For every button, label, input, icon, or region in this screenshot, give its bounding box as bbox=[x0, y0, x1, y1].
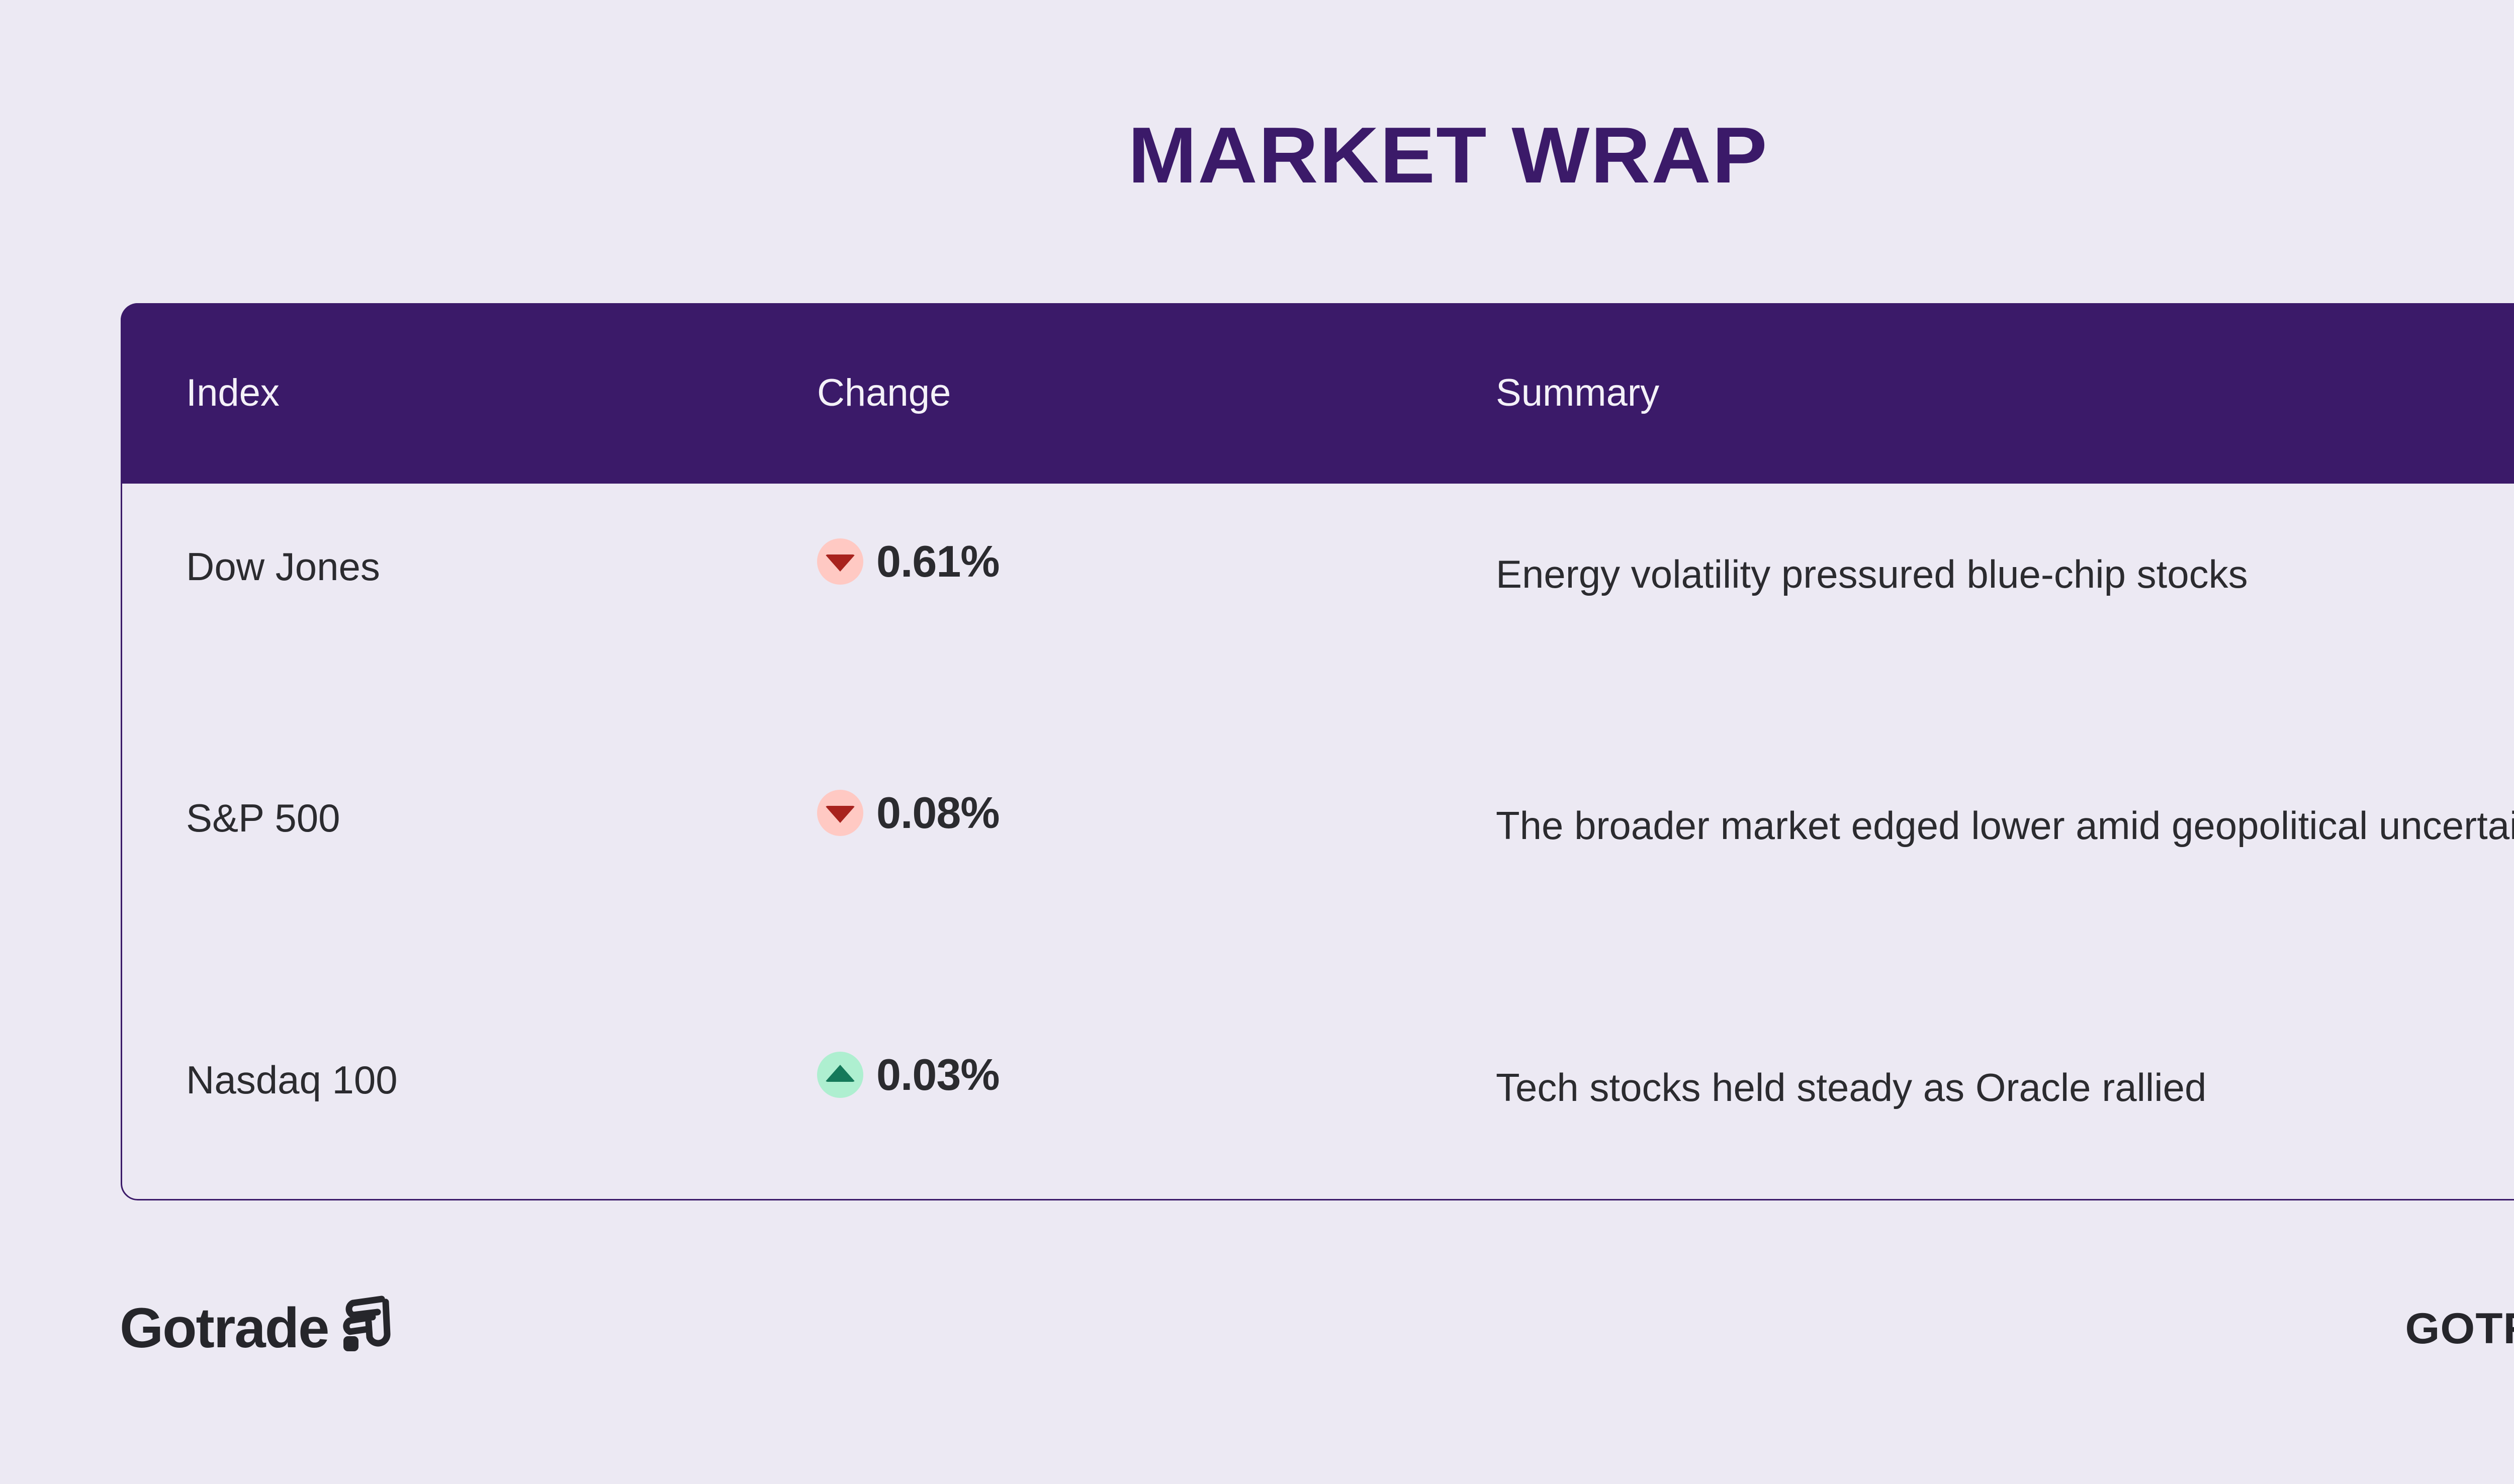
direction-badge-up bbox=[817, 1052, 863, 1098]
index-name: S&P 500 bbox=[186, 797, 340, 840]
change-value: 0.08% bbox=[876, 791, 1000, 835]
market-wrap-card-page: MARKET WRAP Index Change Summary Dow Jon… bbox=[0, 0, 2514, 1484]
summary-text: The broader market edged lower amid geop… bbox=[1496, 797, 2514, 855]
triangle-down-icon bbox=[825, 554, 855, 572]
market-table-card: Index Change Summary Dow Jones 0.61% Ene… bbox=[121, 303, 2514, 1200]
summary-text: Tech stocks held steady as Oracle rallie… bbox=[1496, 1059, 2514, 1117]
change-value: 0.03% bbox=[876, 1053, 1000, 1097]
triangle-up-icon bbox=[825, 1065, 855, 1082]
column-header-summary: Summary bbox=[1496, 374, 1659, 412]
index-name: Nasdaq 100 bbox=[186, 1059, 398, 1102]
direction-badge-down bbox=[817, 538, 863, 585]
brand-logo: Gotrade bbox=[120, 1292, 394, 1356]
summary-text: Energy volatility pressured blue-chip st… bbox=[1496, 545, 2514, 603]
change-cell: 0.08% bbox=[817, 790, 1000, 836]
change-cell: 0.03% bbox=[817, 1052, 1000, 1098]
direction-badge-down bbox=[817, 790, 863, 836]
publication-name: GOTRADE DAILY bbox=[2405, 1307, 2514, 1350]
index-name: Dow Jones bbox=[186, 545, 380, 589]
change-value: 0.61% bbox=[876, 539, 1000, 584]
brand-wordmark: Gotrade bbox=[120, 1300, 328, 1356]
table-header-row: Index Change Summary bbox=[121, 303, 2514, 484]
column-header-change: Change bbox=[817, 374, 951, 412]
triangle-down-icon bbox=[825, 806, 855, 823]
gotrade-logo-mark-icon bbox=[337, 1292, 394, 1356]
change-cell: 0.61% bbox=[817, 538, 1000, 585]
page-title: MARKET WRAP bbox=[0, 116, 2514, 195]
column-header-index: Index bbox=[186, 374, 280, 412]
